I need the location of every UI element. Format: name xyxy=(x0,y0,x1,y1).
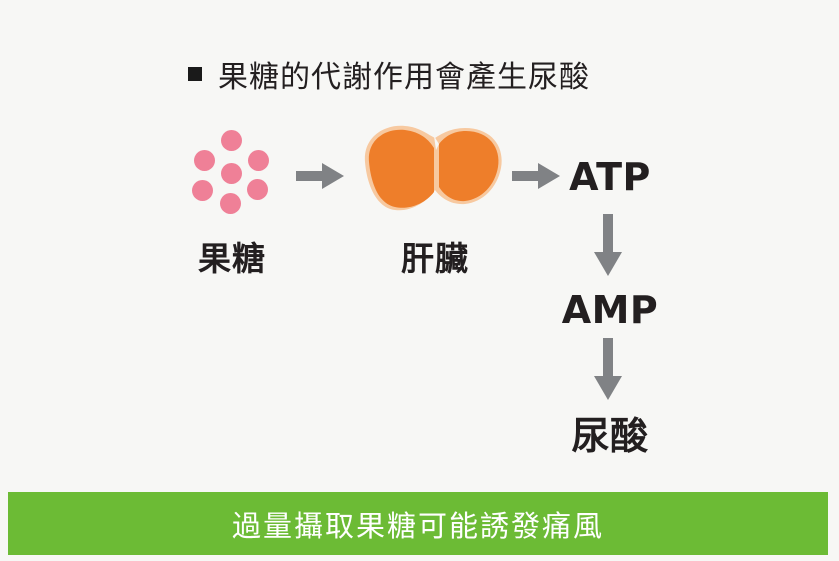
sugar-molecules-icon xyxy=(190,130,274,214)
node-label-uric-acid: 尿酸 xyxy=(540,405,680,460)
arrow-fructose-to-liver-icon xyxy=(296,163,344,189)
arrow-amp-to-uric-acid-icon xyxy=(594,338,622,400)
sugar-dot xyxy=(220,193,241,214)
headline-text: 果糖的代謝作用會產生尿酸 xyxy=(218,52,590,96)
headline: 果糖的代謝作用會產生尿酸 xyxy=(188,52,590,96)
arrow-head xyxy=(594,252,622,276)
infographic-canvas: 果糖的代謝作用會產生尿酸 果糖 肝臟 ATP xyxy=(0,0,839,561)
footer-banner-text: 過量攝取果糖可能誘發痛風 xyxy=(232,503,604,545)
node-label-amp: AMP xyxy=(540,288,680,332)
sugar-dot xyxy=(221,130,242,151)
sugar-dot xyxy=(247,179,268,200)
liver-icon xyxy=(355,118,507,222)
sugar-dot xyxy=(192,180,213,201)
sugar-dot xyxy=(194,150,215,171)
arrow-shaft xyxy=(603,338,613,380)
arrow-shaft xyxy=(603,214,613,256)
square-bullet-icon xyxy=(188,67,202,81)
node-label-liver: 肝臟 xyxy=(385,232,485,280)
arrow-head xyxy=(322,163,344,189)
arrow-atp-to-amp-icon xyxy=(594,214,622,276)
node-label-atp: ATP xyxy=(540,155,680,199)
arrow-head xyxy=(594,376,622,400)
footer-banner: 過量攝取果糖可能誘發痛風 xyxy=(8,492,828,555)
node-label-fructose: 果糖 xyxy=(186,232,278,280)
sugar-dot xyxy=(248,150,269,171)
sugar-dot xyxy=(221,163,242,184)
